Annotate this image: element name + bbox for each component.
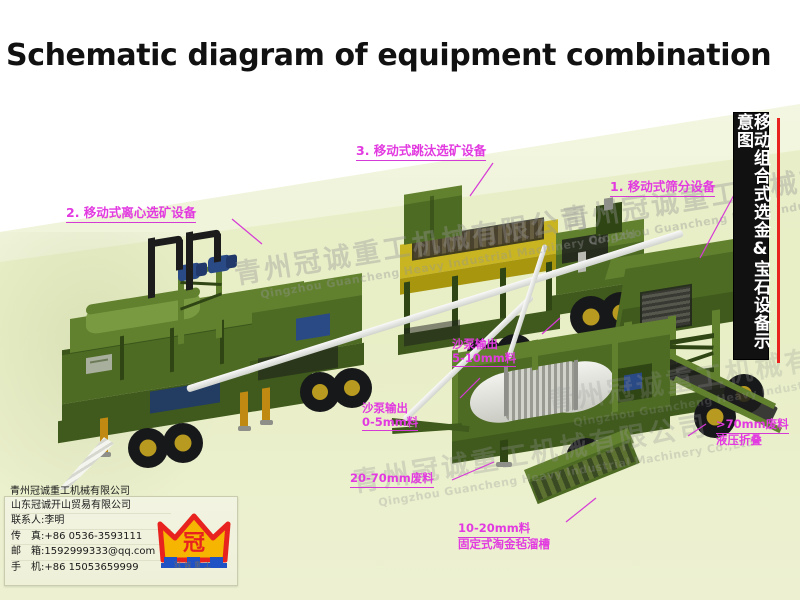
label-fixed-sluice-10-20mm: 10-20mm料 固定式淘金毡溜槽 xyxy=(458,522,550,551)
label-item-3: 3. 移动式跳汰选矿设备 xyxy=(356,144,486,161)
contact-company-2: 山东冠诚开山贸易有限公司 xyxy=(11,499,171,514)
vertical-caption-text: 移动组合式选金&宝石设备示意图 xyxy=(734,113,768,359)
label-pump-output-5-10mm: 沙泵输出 5-10mm料 xyxy=(452,338,516,367)
contact-row-mobile: 手 机:+86 15053659999 xyxy=(11,561,171,575)
contact-row-person: 联系人:李明 xyxy=(11,514,171,529)
label-item-2: 2. 移动式离心选矿设备 xyxy=(66,206,196,223)
contact-company-1: 青州冠诚重工机械有限公司 xyxy=(10,482,130,497)
label-item-1: 1. 移动式筛分设备 xyxy=(610,180,715,197)
red-accent-bar xyxy=(777,118,780,363)
logo-caption: 冠诚重工 xyxy=(158,560,230,570)
vertical-caption: 移动组合式选金&宝石设备示意图 xyxy=(733,112,769,360)
diagram-canvas: 青州冠诚重工机械有限公司 Qingzhou Guancheng Heavy In… xyxy=(0,0,800,600)
label-waste-over-70mm: >70mm废料 液压折叠 xyxy=(716,418,789,447)
label-waste-20-70mm: 20-70mm废料 xyxy=(350,472,434,488)
contact-row-fax: 传 真:+86 0536-3593111 xyxy=(11,530,171,545)
contact-row-email: 邮 箱:1592999333@qq.com xyxy=(11,545,171,560)
page-title: Schematic diagram of equipment combinati… xyxy=(6,38,771,73)
logo-mark-text: 冠 xyxy=(183,531,205,556)
label-pump-output-0-5mm: 沙泵输出 0-5mm料 xyxy=(362,402,418,431)
